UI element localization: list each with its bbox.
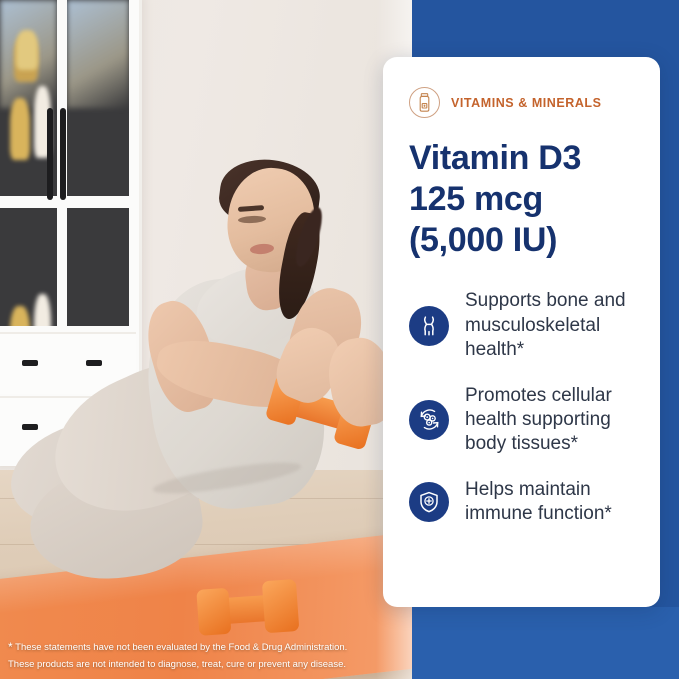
benefit-text: Promotes cellular health supporting body… xyxy=(465,384,642,456)
cabinet-handle xyxy=(60,108,66,200)
benefit-item-immune-function: Helps maintain immune function* xyxy=(409,478,642,526)
benefit-text: Supports bone and musculoskeletal health… xyxy=(465,289,642,361)
title-line-2: 125 mcg xyxy=(409,179,642,220)
product-ad: * These statements have not been evaluat… xyxy=(0,0,679,679)
glass-reflection xyxy=(67,0,129,108)
dumbbell-weight-end xyxy=(196,588,231,636)
shelf-object xyxy=(10,306,30,326)
shelf-object xyxy=(16,30,38,70)
lifestyle-photo: * These statements have not been evaluat… xyxy=(0,0,412,679)
category-label: VITAMINS & MINERALS xyxy=(451,96,602,110)
fda-disclaimer: * These statements have not been evaluat… xyxy=(8,638,408,673)
cell-regeneration-icon xyxy=(409,400,449,440)
drawer-pull xyxy=(22,360,38,366)
title-line-3: (5,000 IU) xyxy=(409,220,642,261)
benefit-item-bone-health: Supports bone and musculoskeletal health… xyxy=(409,289,642,361)
disclaimer-line-1: These statements have not been evaluated… xyxy=(15,642,347,653)
page-title: Vitamin D3 125 mcg (5,000 IU) xyxy=(409,138,642,261)
cabinet-glass-pane xyxy=(67,208,129,326)
benefit-item-cellular-health: Promotes cellular health supporting body… xyxy=(409,384,642,456)
cabinet-handle xyxy=(47,108,53,200)
dumbbell-weight-end xyxy=(262,579,300,633)
blue-background-panel-lower xyxy=(408,607,679,679)
benefit-text: Helps maintain immune function* xyxy=(465,478,642,526)
drawer-pull xyxy=(86,360,102,366)
disclaimer-line-2: These products are not intended to diagn… xyxy=(8,659,346,670)
category-eyebrow: VITAMINS & MINERALS xyxy=(409,87,642,118)
shelf-object xyxy=(10,98,30,160)
benefits-list: Supports bone and musculoskeletal health… xyxy=(409,289,642,526)
supplement-bottle-icon xyxy=(409,87,440,118)
cabinet-glass-pane xyxy=(0,208,57,326)
product-info-card: VITAMINS & MINERALS Vitamin D3 125 mcg (… xyxy=(383,57,660,607)
shelf-object xyxy=(34,294,51,326)
bone-joint-icon xyxy=(409,306,449,346)
drawer-pull xyxy=(22,424,38,430)
cabinet-glass-pane xyxy=(67,0,129,196)
title-line-1: Vitamin D3 xyxy=(409,138,642,179)
disclaimer-marker: * xyxy=(8,640,13,654)
shield-health-icon xyxy=(409,482,449,522)
